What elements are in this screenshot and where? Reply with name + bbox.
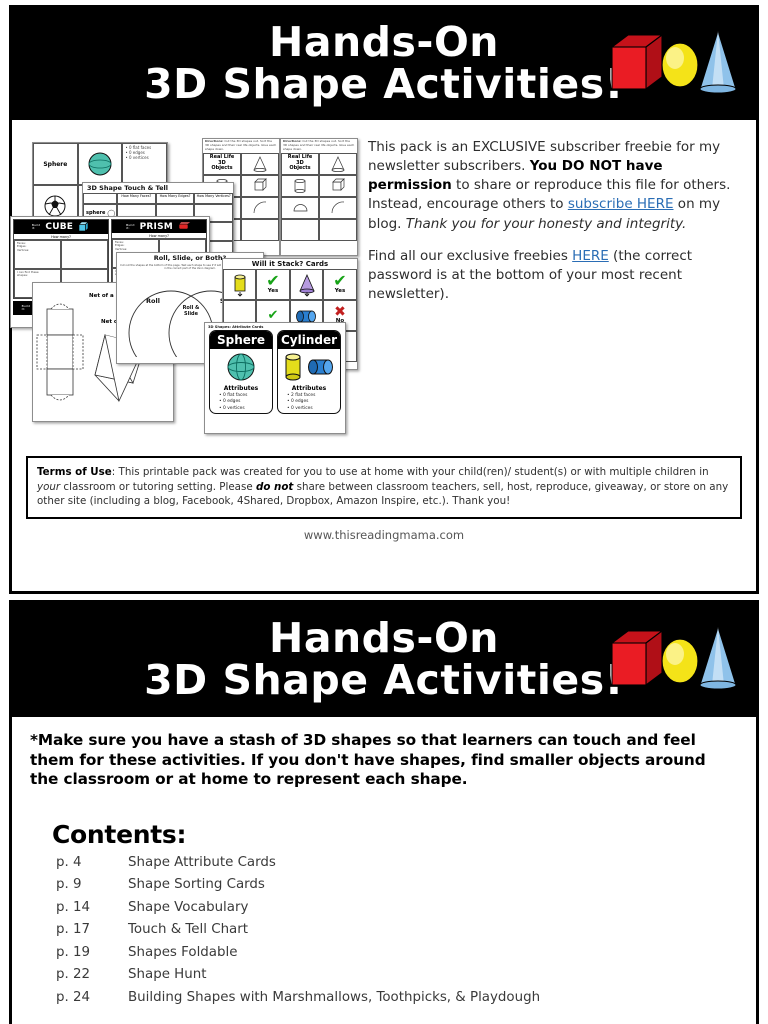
title-line-2: 3D Shape Activities!	[144, 64, 624, 106]
stack-answer-2: Yes	[335, 288, 345, 294]
svg-text:Slide: Slide	[184, 311, 199, 317]
toc-page-number: p. 9	[56, 874, 128, 897]
toc-page-number: p. 19	[56, 942, 128, 965]
attribute-card-sphere-sub: Attributes	[210, 385, 272, 392]
cone-outline-icon-2	[330, 155, 346, 173]
terms-t1: : This printable pack was created for yo…	[112, 466, 709, 478]
page-2-title: Hands-On 3D Shape Activities!	[144, 618, 624, 702]
curve-outline-icon	[253, 201, 268, 214]
blue-cone-icon	[700, 627, 736, 689]
attribute-card-sphere-title: Sphere	[210, 331, 272, 349]
toc-entry-label: Building Shapes with Marshmallows, Tooth…	[128, 987, 738, 1010]
real-life-line-3: Objects	[211, 166, 232, 172]
curve-outline-icon-2	[331, 201, 346, 214]
sphere-thumb-icon	[87, 151, 113, 177]
toc-entry-label: Shape Attribute Cards	[128, 852, 738, 875]
page-2-title-line-2: 3D Shape Activities!	[144, 660, 624, 702]
page-1: Hands-On 3D Shape Activities!	[9, 5, 759, 594]
touch-tell-col-1: How Many Faces?	[117, 193, 156, 204]
terms-of-use-box: Terms of Use: This printable pack was cr…	[26, 456, 742, 519]
toc-page-number: p. 4	[56, 852, 128, 875]
list-item: p. 24 Building Shapes with Marshmallows,…	[56, 987, 738, 1010]
toc-entry-label: Shapes Foldable	[128, 942, 738, 965]
vocab-card-cube-title: CUBE	[45, 222, 73, 232]
yellow-cylinder-upright-icon	[282, 352, 304, 382]
page-1-banner: Hands-On 3D Shape Activities!	[12, 8, 756, 120]
attribute-card-cylinder-sub: Attributes	[278, 385, 340, 392]
materials-note: *Make sure you have a stash of 3D shapes…	[30, 731, 738, 790]
directions-text: Directions: Cut the 3D shapes out. Sort …	[203, 139, 279, 153]
copy-paragraph-1: This pack is an EXCLUSIVE subscriber fre…	[368, 138, 740, 234]
soccer-ball-icon	[43, 194, 67, 218]
toc-page-number: p. 14	[56, 897, 128, 920]
toc-page-number: p. 22	[56, 964, 128, 987]
cone-outline-icon	[252, 155, 268, 173]
touch-tell-col-2: How Many Edges?	[156, 193, 195, 204]
list-item: p. 22 Shape Hunt	[56, 964, 738, 987]
hemisphere-outline-icon-2	[293, 201, 308, 214]
website-footer: www.thisreadingmama.com	[12, 519, 756, 542]
blue-cylinder-lying-icon	[306, 355, 336, 379]
list-item: p. 14 Shape Vocabulary	[56, 897, 738, 920]
touch-tell-title: 3D Shape Touch & Tell	[83, 183, 233, 193]
check-icon: ✔	[266, 275, 279, 288]
purple-cone-icon	[296, 273, 318, 297]
toc-entry-label: Shape Sorting Cards	[128, 874, 738, 897]
list-item: p. 19 Shapes Foldable	[56, 942, 738, 965]
page-2-title-line-1: Hands-On	[144, 618, 624, 660]
attribute-card-sphere: Sphere Attributes • 0 flat faces • 0 edg	[209, 330, 273, 414]
cylinder-outline-icon-2	[293, 178, 307, 194]
freebies-here-link[interactable]: HERE	[572, 248, 609, 264]
stack-title: Will it Stack? Cards	[223, 259, 357, 269]
banner-shapes-group	[608, 25, 738, 103]
red-cube-icon	[612, 631, 662, 685]
toc-entry-label: Shape Vocabulary	[128, 897, 738, 920]
sorting-label-sphere: Sphere	[43, 161, 67, 168]
toc-entry-label: Touch & Tell Chart	[128, 919, 738, 942]
thumb-real-life-objects-2: Directions: Cut the 3D shapes out. Sort …	[280, 138, 358, 256]
stack-answer-1: Yes	[268, 288, 278, 294]
cube-outline-icon	[253, 178, 268, 193]
yellow-sphere-icon	[662, 43, 698, 87]
cube-outline-icon-2	[331, 178, 346, 193]
blue-cone-icon	[700, 31, 736, 93]
vocab-card-prism-title: PRISM	[140, 222, 173, 232]
sphere-bullet-3: • 0 vertices	[219, 406, 272, 413]
title-line-1: Hands-On	[144, 22, 624, 64]
copy-p1-italic: Thank you for your honesty and integrity…	[406, 216, 687, 232]
product-preview-collage: Sphere • 0 flat faces• 0 edges• 0 vertic…	[24, 130, 354, 440]
blue-cube-icon	[78, 221, 90, 233]
attribute-card-cylinder: Cylinder	[277, 330, 341, 414]
list-item: p. 9 Shape Sorting Cards	[56, 874, 738, 897]
toc-entry-label: Shape Hunt	[128, 964, 738, 987]
page-1-body: Sphere • 0 flat faces• 0 edges• 0 vertic…	[12, 120, 756, 450]
real-life-2-line-3: Objects	[289, 166, 310, 172]
terms-t2: classroom or tutoring setting. Please	[60, 481, 256, 493]
page-1-title: Hands-On 3D Shape Activities!	[144, 22, 624, 106]
cylinder-bullet-3: • 0 vertices	[287, 406, 340, 413]
contents-list: p. 4 Shape Attribute Cards p. 9 Shape So…	[56, 852, 738, 1010]
red-prism-icon	[178, 221, 192, 232]
cross-icon: ✖	[334, 307, 346, 319]
attribute-card-cylinder-title: Cylinder	[278, 331, 340, 349]
terms-your: your	[37, 481, 60, 493]
copy-paragraph-2: Find all our exclusive freebies HERE (th…	[368, 247, 740, 304]
thumb-shape-attribute-cards: 3D Shapes: Attribute Cards Sphere Attrib…	[204, 322, 346, 434]
page-2-banner-shapes-group	[608, 621, 738, 699]
toc-page-number: p. 24	[56, 987, 128, 1010]
list-item: p. 4 Shape Attribute Cards	[56, 852, 738, 875]
list-item: p. 17 Touch & Tell Chart	[56, 919, 738, 942]
toc-page-number: p. 17	[56, 919, 128, 942]
svg-text:Roll: Roll	[146, 297, 160, 305]
page-2-banner: Hands-On 3D Shape Activities!	[12, 603, 756, 717]
check-icon-3: ✔	[268, 310, 279, 322]
terms-do-not: do not	[256, 481, 293, 493]
page-2-body: *Make sure you have a stash of 3D shapes…	[12, 717, 756, 1009]
yellow-cylinder-icon	[230, 273, 250, 297]
teal-sphere-icon	[225, 351, 257, 383]
page-2: Hands-On 3D Shape Activities! *Make sure…	[9, 600, 759, 1024]
copy-p2-a: Find all our exclusive freebies	[368, 248, 572, 264]
page-1-copy: This pack is an EXCLUSIVE subscriber fre…	[354, 130, 744, 450]
directions-text-2: Directions: Cut the 3D shapes out. Sort …	[281, 139, 357, 153]
yellow-sphere-icon	[662, 639, 698, 683]
terms-of-use-section: Terms of Use: This printable pack was cr…	[12, 450, 756, 519]
contents-heading: Contents:	[52, 820, 738, 849]
red-cube-icon	[612, 35, 662, 89]
check-icon-2: ✔	[333, 275, 346, 288]
touch-tell-col-3: How Many Vertices?	[194, 193, 233, 204]
subscribe-here-link[interactable]: subscribe HERE	[568, 196, 674, 212]
sorting-attributes-text: • 0 flat faces• 0 edges• 0 vertices	[123, 144, 166, 161]
terms-heading: Terms of Use	[37, 466, 112, 478]
